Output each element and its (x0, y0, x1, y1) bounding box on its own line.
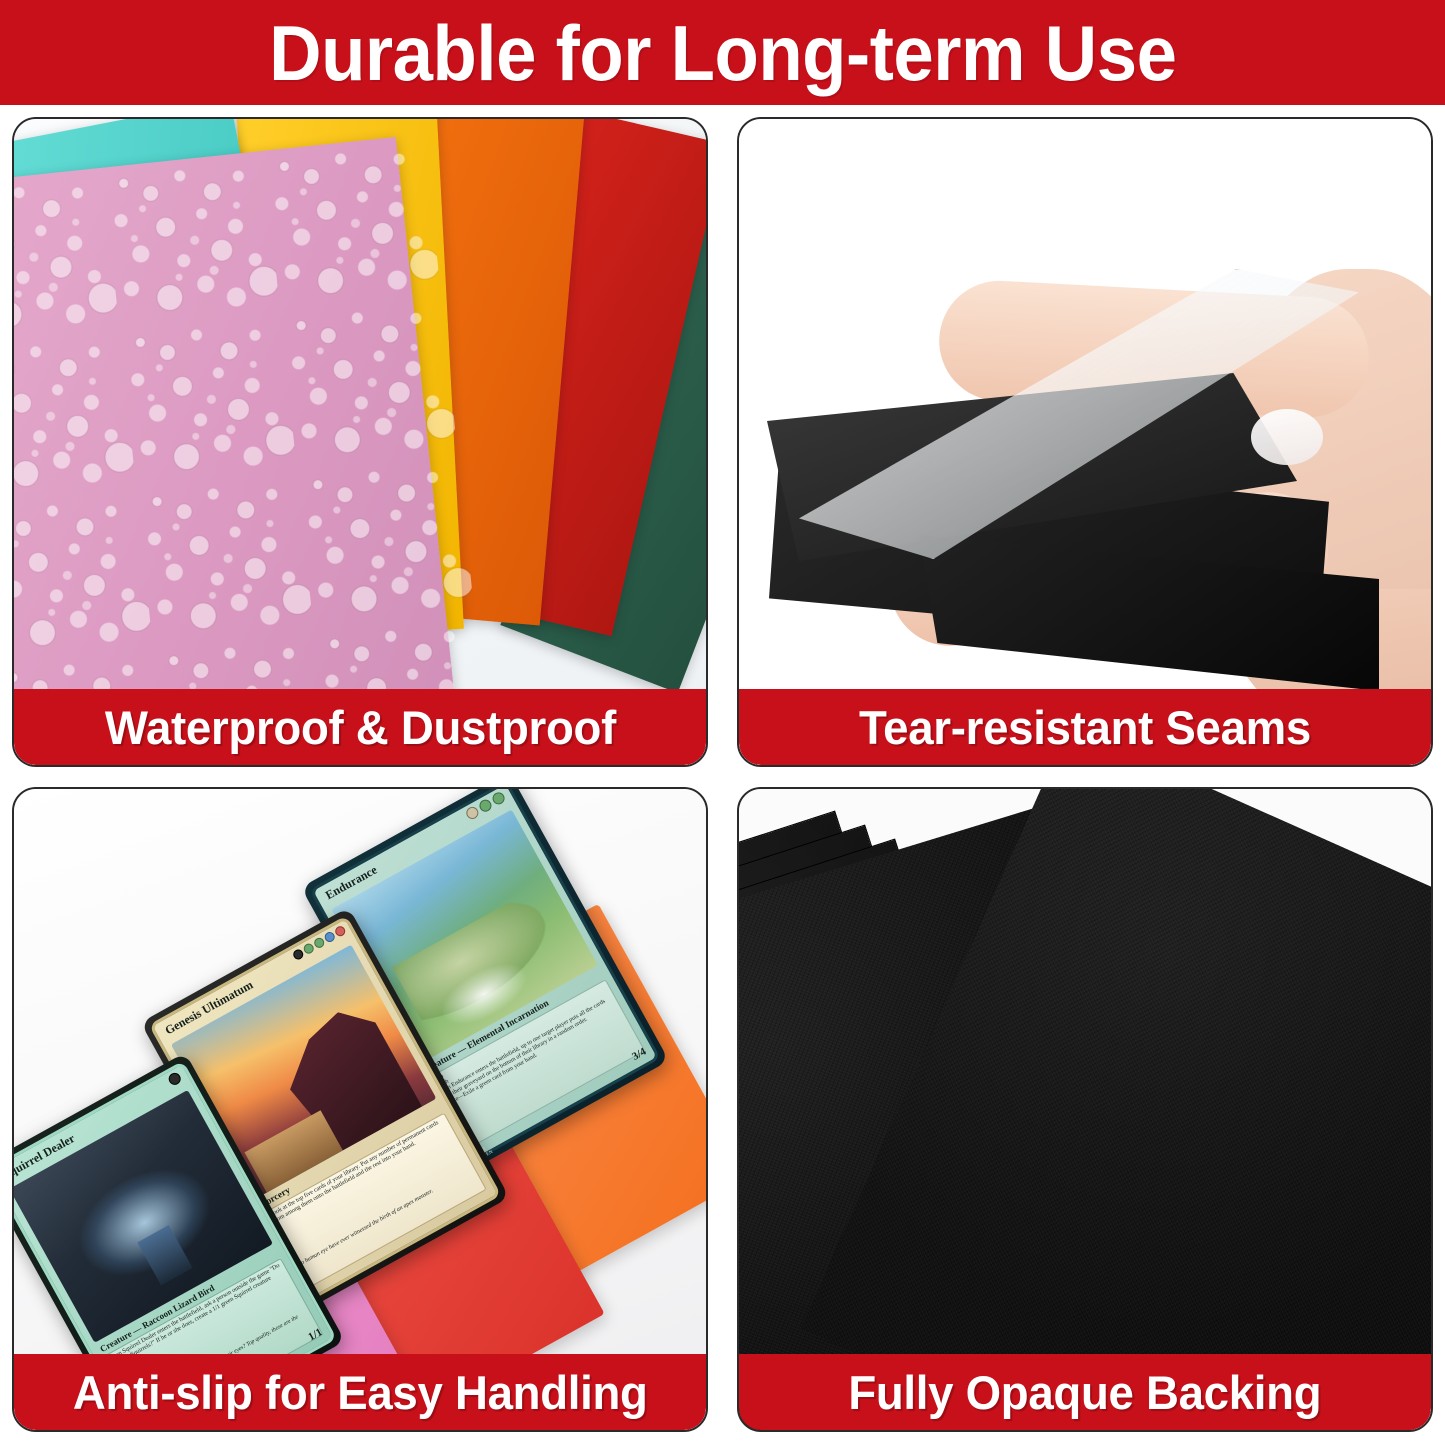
caption-text-fully-opaque: Fully Opaque Backing (849, 1365, 1322, 1420)
panel-waterproof-dustproof[interactable]: Waterproof & Dustproof (12, 117, 708, 767)
fingernail (1251, 409, 1323, 465)
water-droplets-overlay (14, 135, 496, 765)
caption-bar-anti-slip: Anti-slip for Easy Handling (14, 1354, 706, 1430)
caption-text-anti-slip: Anti-slip for Easy Handling (73, 1365, 648, 1420)
panel-anti-slip-handling[interactable]: Endurance Creature — Elemental Incarnati… (12, 787, 708, 1432)
caption-text-waterproof: Waterproof & Dustproof (104, 700, 615, 755)
caption-text-tear-resistant: Tear-resistant Seams (859, 700, 1311, 755)
caption-bar-waterproof: Waterproof & Dustproof (14, 689, 706, 765)
opaque-backing-photo (739, 789, 1431, 1430)
anti-slip-cards-photo: Endurance Creature — Elemental Incarnati… (14, 789, 706, 1430)
panel-fully-opaque-backing[interactable]: Fully Opaque Backing (737, 787, 1433, 1432)
feature-panel-grid: Waterproof & Dustproof Tear- (0, 105, 1445, 1445)
caption-bar-fully-opaque: Fully Opaque Backing (739, 1354, 1431, 1430)
caption-bar-tear-resistant: Tear-resistant Seams (739, 689, 1431, 765)
panel-tear-resistant-seams[interactable]: Tear-resistant Seams (737, 117, 1433, 767)
page-title: Durable for Long-term Use (269, 14, 1176, 92)
header-banner: Durable for Long-term Use (0, 0, 1445, 105)
tear-resistant-photo (739, 119, 1431, 765)
waterproof-sleeves-photo (14, 119, 706, 765)
